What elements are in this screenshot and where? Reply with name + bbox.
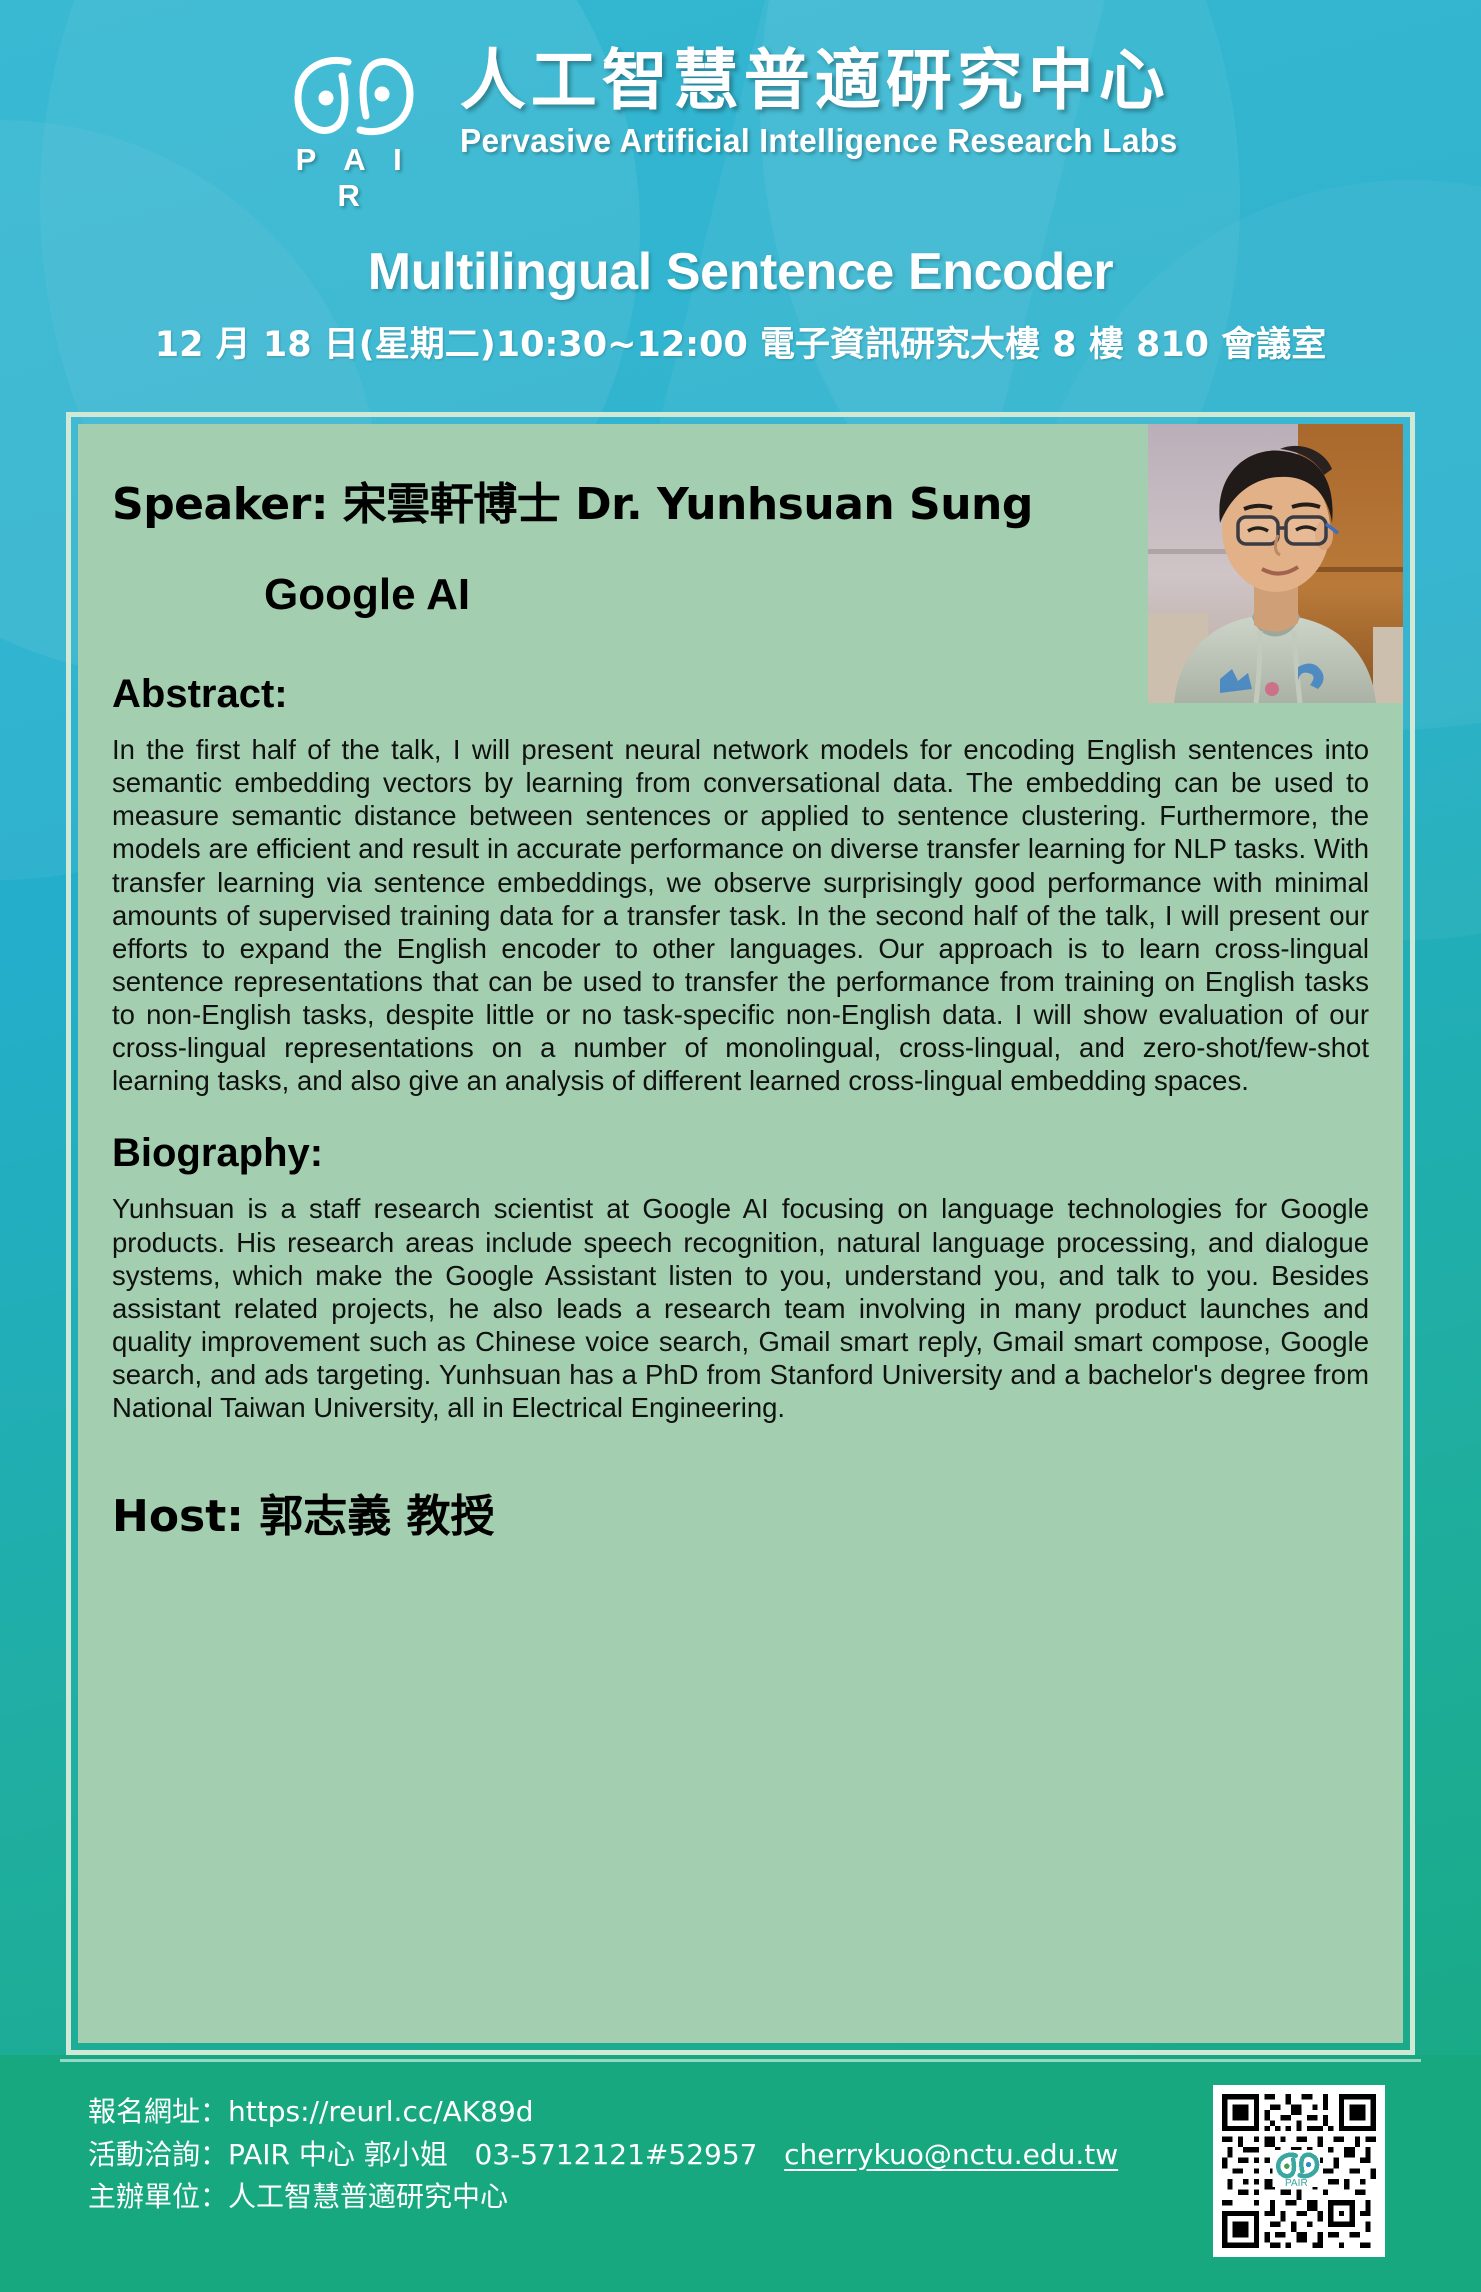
organizer-label: 主辦單位： [88, 2180, 228, 2213]
talk-title: Multilingual Sentence Encoder [0, 242, 1481, 302]
footer-divider [60, 2059, 1421, 2062]
spacer [448, 2138, 475, 2171]
pair-infinity-icon [286, 50, 422, 142]
footer-contact-block: 報名網址：https://reurl.cc/AK89d 活動洽詢：PAIR 中心… [88, 2091, 1118, 2219]
spacer [757, 2138, 784, 2171]
speaker-photo [1148, 424, 1403, 703]
organization-branding: P A I R 人工智慧普適研究中心 Pervasive Artificial … [0, 46, 1481, 214]
qr-code-image: PAIR [1222, 2094, 1376, 2248]
content-card: Speaker: 宋雲軒博士 Dr. Yunhsuan Sung Google … [78, 424, 1403, 2043]
talk-datetime-location: 12 月 18 日(星期二)10:30~12:00 電子資訊研究大樓 8 樓 8… [0, 316, 1481, 367]
pair-logo: P A I R [274, 50, 434, 214]
poster-footer: 報名網址：https://reurl.cc/AK89d 活動洽詢：PAIR 中心… [0, 2055, 1481, 2292]
abstract-text: In the first half of the talk, I will pr… [112, 733, 1369, 1097]
registration-qr-code[interactable]: PAIR [1213, 2085, 1385, 2257]
footer-contact-row: 活動洽詢：PAIR 中心 郭小姐 03-5712121#52957 cherry… [88, 2134, 1118, 2177]
registration-url[interactable]: https://reurl.cc/AK89d [228, 2095, 534, 2128]
contact-label: 活動洽詢： [88, 2138, 228, 2171]
organizer-name: 人工智慧普適研究中心 [228, 2180, 508, 2213]
footer-registration-row: 報名網址：https://reurl.cc/AK89d [88, 2091, 1118, 2134]
speaker-portrait-illustration [1148, 424, 1403, 703]
host-name: Host: 郭志義 教授 [112, 1480, 1369, 1544]
contact-email[interactable]: cherrykuo@nctu.edu.tw [784, 2138, 1118, 2171]
biography-text: Yunhsuan is a staff research scientist a… [112, 1192, 1369, 1424]
contact-phone: 03-5712121#52957 [474, 2138, 757, 2171]
seminar-poster: P A I R 人工智慧普適研究中心 Pervasive Artificial … [0, 0, 1481, 2292]
org-name-english: Pervasive Artificial Intelligence Resear… [460, 122, 1178, 160]
organization-names: 人工智慧普適研究中心 Pervasive Artificial Intellig… [460, 46, 1208, 160]
contact-person: PAIR 中心 郭小姐 [228, 2138, 448, 2171]
pair-acronym: P A I R [274, 142, 434, 214]
biography-heading: Biography: [112, 1131, 1369, 1176]
svg-text:PAIR: PAIR [1285, 2178, 1308, 2189]
footer-organizer-row: 主辦單位：人工智慧普適研究中心 [88, 2176, 1118, 2219]
registration-label: 報名網址： [88, 2095, 228, 2128]
poster-header: P A I R 人工智慧普適研究中心 Pervasive Artificial … [0, 0, 1481, 367]
org-name-chinese: 人工智慧普適研究中心 [460, 46, 1208, 115]
content-card-frame: Speaker: 宋雲軒博士 Dr. Yunhsuan Sung Google … [66, 412, 1415, 2055]
